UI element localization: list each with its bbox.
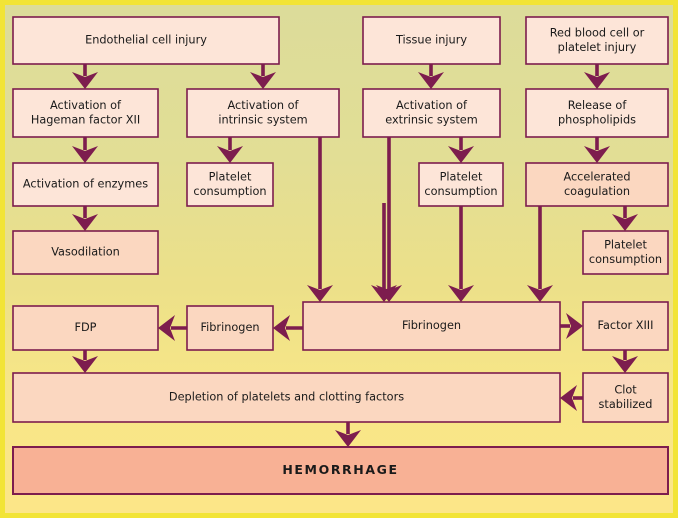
connector-intrinsic-to-platelet-consumption [217, 134, 243, 163]
node-label: Fibrinogen [402, 319, 461, 332]
connector-extrinsic-to-fibrinogen [376, 134, 402, 302]
connector-fibrinogen-large-to-factor-xiii [557, 313, 583, 339]
node-platelet-consumption-phospholipid[interactable]: Plateletconsumption [583, 231, 668, 274]
connector-rbc-to-phospholipids [584, 61, 610, 89]
connector-endothelial-to-hageman [72, 61, 98, 89]
diagram-page: Endothelial cell injuryTissue injuryRed … [0, 0, 678, 518]
node-factor-xiii[interactable]: Factor XIII [583, 302, 668, 350]
node-label: Depletion of platelets and clotting fact… [169, 391, 404, 404]
node-clot-stabilized[interactable]: Clotstabilized [583, 373, 668, 422]
node-fdp[interactable]: FDP [13, 306, 158, 350]
node-label: coagulation [564, 185, 630, 198]
node-fibrinogen-small[interactable]: Fibrinogen [187, 306, 273, 350]
node-label: Activation of [396, 99, 468, 112]
node-label: HEMORRHAGE [282, 462, 398, 477]
node-label: Platelet [440, 170, 483, 183]
connector-tissue-to-extrinsic [418, 61, 444, 89]
node-label: Endothelial cell injury [85, 34, 207, 47]
connector-fdp-to-depletion [72, 347, 98, 373]
connector-depletion-to-hemorrhage [335, 419, 361, 447]
connector-extrinsic-to-platelet-consumption [448, 134, 474, 163]
node-endothelial-cell-injury[interactable]: Endothelial cell injury [13, 17, 279, 64]
node-activation-of-extrinsic-system[interactable]: Activation ofextrinsic system [363, 89, 500, 137]
node-vasodilation[interactable]: Vasodilation [13, 231, 158, 274]
node-label: intrinsic system [218, 113, 307, 126]
connector-fibrinogen-small-to-fdp [158, 315, 190, 341]
node-label: Vasodilation [51, 246, 120, 259]
node-activation-of-intrinsic-system[interactable]: Activation ofintrinsic system [187, 89, 339, 137]
node-depletion-of-platelets-and-clotting-factors[interactable]: Depletion of platelets and clotting fact… [13, 373, 560, 422]
node-label: phospholipids [558, 113, 636, 126]
connector-intrinsic-to-fibrinogen [307, 134, 333, 302]
node-label: consumption [193, 185, 266, 198]
flowchart-canvas: Endothelial cell injuryTissue injuryRed … [0, 0, 678, 518]
node-label: Hageman factor XII [31, 113, 140, 126]
connector-platelet-consumption-intrinsic-to-fibrinogen [371, 203, 397, 302]
node-label: Clot [614, 383, 637, 396]
node-label: Platelet [604, 238, 647, 251]
connector-phospholipids-to-accelerated-coagulation [584, 134, 610, 163]
node-label: Factor XIII [598, 319, 654, 332]
node-release-of-phospholipids[interactable]: Release ofphospholipids [526, 89, 668, 137]
node-red-blood-cell-or-platelet-injury[interactable]: Red blood cell orplatelet injury [526, 17, 668, 64]
node-label: stabilized [599, 398, 653, 411]
node-label: Activation of [227, 99, 299, 112]
node-label: platelet injury [558, 41, 637, 54]
connector-clot-stabilized-to-depletion [560, 385, 586, 411]
node-label: consumption [589, 253, 662, 266]
node-hemorrhage[interactable]: HEMORRHAGE [13, 447, 668, 494]
connector-accelerated-coagulation-to-fibrinogen [527, 203, 553, 302]
node-accelerated-coagulation[interactable]: Acceleratedcoagulation [526, 163, 668, 206]
node-label: consumption [424, 185, 497, 198]
node-label: extrinsic system [385, 113, 477, 126]
node-platelet-consumption-intrinsic[interactable]: Plateletconsumption [187, 163, 273, 206]
node-label: Platelet [209, 170, 252, 183]
node-tissue-injury[interactable]: Tissue injury [363, 17, 500, 64]
node-label: Tissue injury [395, 34, 467, 47]
node-fibrinogen-large[interactable]: Fibrinogen [303, 302, 560, 350]
node-label: Fibrinogen [200, 321, 259, 334]
node-activation-of-enzymes[interactable]: Activation of enzymes [13, 163, 158, 206]
node-label: FDP [74, 321, 96, 334]
connector-endothelial-to-intrinsic [250, 61, 276, 89]
node-label: Accelerated [563, 170, 630, 183]
connector-accelerated-coagulation-to-platelet-consumption [612, 203, 638, 231]
node-activation-of-hageman-factor-xii[interactable]: Activation ofHageman factor XII [13, 89, 158, 137]
node-label: Red blood cell or [550, 26, 645, 39]
node-layer: Endothelial cell injuryTissue injuryRed … [13, 17, 668, 494]
connector-platelet-consumption-extrinsic-to-fibrinogen [448, 203, 474, 302]
node-platelet-consumption-extrinsic[interactable]: Plateletconsumption [419, 163, 503, 206]
connector-factor-xiii-to-clot-stabilized [612, 347, 638, 373]
connector-enzymes-to-vasodilation [72, 203, 98, 231]
node-label: Release of [568, 99, 628, 112]
node-label: Activation of enzymes [23, 178, 148, 191]
connector-fibrinogen-large-to-fibrinogen-small [273, 315, 306, 341]
node-label: Activation of [50, 99, 122, 112]
connector-hageman-to-enzymes [72, 134, 98, 163]
